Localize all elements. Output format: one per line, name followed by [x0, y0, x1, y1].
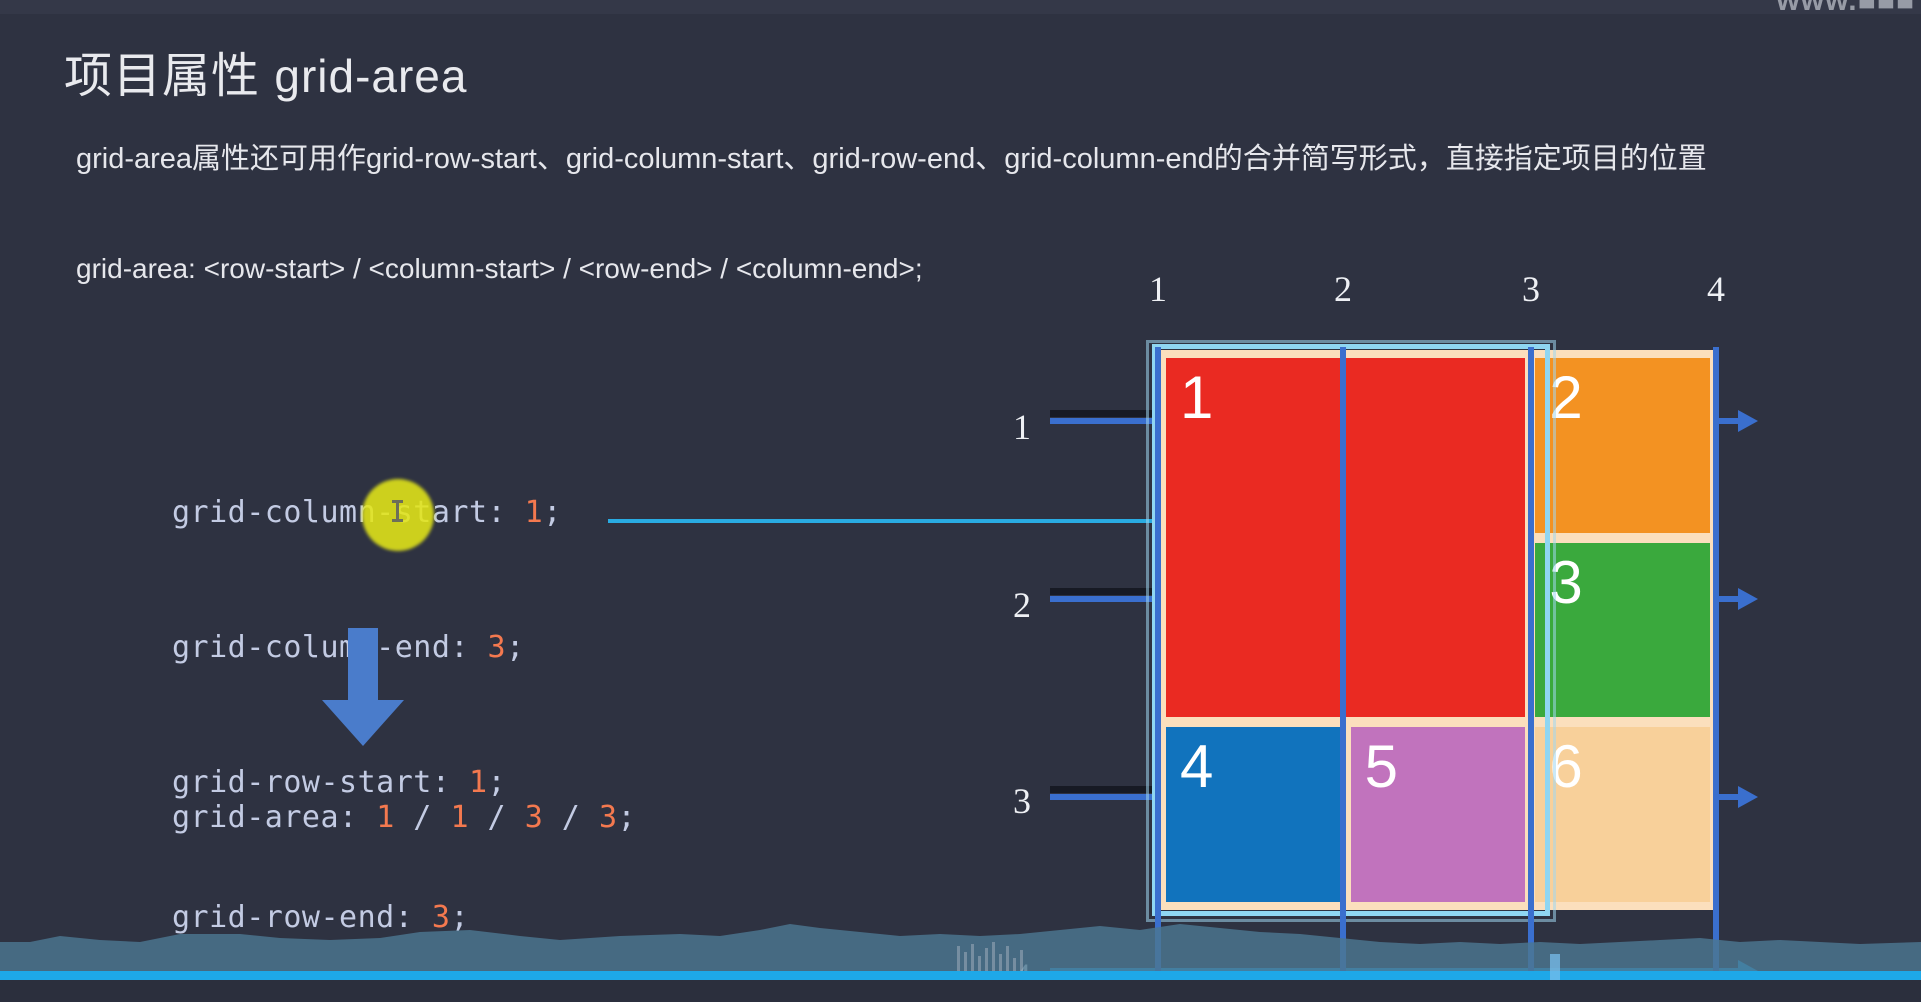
- grid-column-line-4: [1713, 347, 1719, 1002]
- grid-column-line-3: [1528, 347, 1534, 1002]
- playback-progress-bar[interactable]: [0, 971, 1921, 980]
- grid-item-5-label: 5: [1365, 737, 1398, 797]
- grid-column-label-1: 1: [1138, 268, 1178, 310]
- grid-item-3-label: 3: [1549, 553, 1582, 613]
- grid-item-6-label: 6: [1549, 737, 1582, 797]
- grid-column-line-2: [1340, 347, 1346, 1002]
- grid-column-label-4: 4: [1696, 268, 1736, 310]
- player-bottom-bar: [0, 980, 1921, 1002]
- grid-row-arrow-1-icon: [1738, 410, 1758, 432]
- slide-stage: www.■■■ 项目属性 grid-area grid-area属性还可用作gr…: [0, 0, 1921, 1002]
- grid-item-4-label: 4: [1180, 737, 1213, 797]
- grid-item-2-label: 2: [1549, 368, 1582, 428]
- grid-item-1-label: 1: [1180, 368, 1213, 428]
- grid-item-3[interactable]: 3: [1535, 543, 1710, 718]
- grid-item-4[interactable]: 4: [1166, 727, 1341, 902]
- grid-item-6[interactable]: 6: [1535, 727, 1710, 902]
- grid-column-label-2: 2: [1323, 268, 1363, 310]
- grid-row-label-3: 3: [1002, 780, 1042, 822]
- grid-diagram: 1 2 3 4 1 2 3 4 1 2 3 4 5 6: [0, 0, 1921, 1002]
- grid-row-arrow-2-icon: [1738, 588, 1758, 610]
- grid-row-label-2: 2: [1002, 584, 1042, 626]
- grid-item-5[interactable]: 5: [1351, 727, 1526, 902]
- grid-row-arrow-3-icon: [1738, 786, 1758, 808]
- grid-container: 1 2 3 4 5 6: [1158, 350, 1718, 910]
- grid-row-label-1: 1: [1002, 406, 1042, 448]
- grid-column-label-3: 3: [1511, 268, 1551, 310]
- grid-column-line-1: [1155, 347, 1161, 1002]
- grid-item-2[interactable]: 2: [1535, 358, 1710, 533]
